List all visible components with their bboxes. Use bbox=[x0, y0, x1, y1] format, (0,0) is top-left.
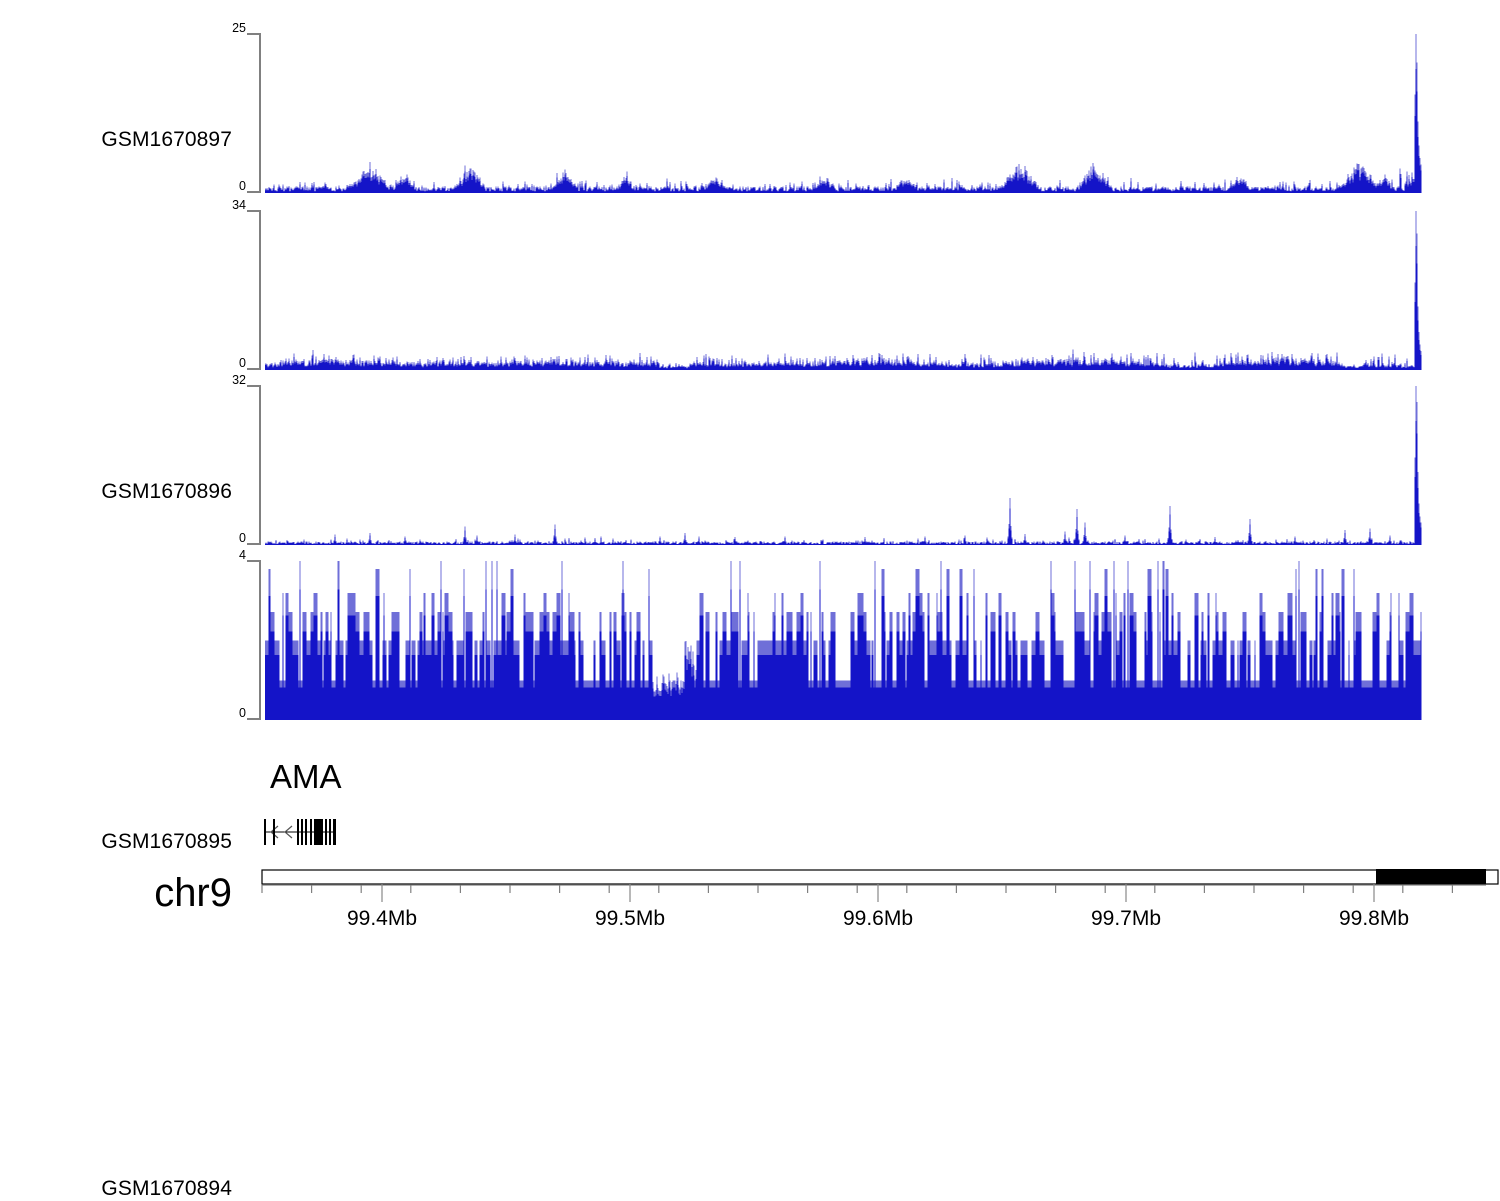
axis-min-gsm1670897: 0 bbox=[216, 180, 246, 193]
axis-min-gsm1670894: 0 bbox=[216, 707, 246, 720]
signal-plot-gsm1670897 bbox=[265, 34, 1422, 193]
chromosome-label: chr9 bbox=[0, 871, 232, 916]
chromosome-ruler-row: chr9 99.4Mb99.5Mb99.6Mb99.7Mb99.8Mb bbox=[0, 862, 1500, 980]
track-label-gsm1670897: GSM1670897 bbox=[0, 128, 232, 152]
coverage-track-gsm1670897[interactable]: GSM1670897 25 0 bbox=[0, 28, 1500, 198]
genome-browser: GSM1670897 25 0 GSM1670896 34 0 GSM16708… bbox=[0, 0, 1500, 980]
axis-max-gsm1670895: 32 bbox=[216, 374, 246, 387]
axis-max-gsm1670897: 25 bbox=[216, 22, 246, 35]
track-label-gsm1670894: GSM1670894 bbox=[0, 1177, 232, 1201]
coverage-track-gsm1670896[interactable]: GSM1670896 34 0 bbox=[0, 205, 1500, 375]
coordinate-ruler[interactable] bbox=[248, 862, 1500, 907]
ruler-tick-label: 99.5Mb bbox=[595, 907, 665, 931]
gene-model-ama[interactable] bbox=[262, 817, 342, 852]
axis-line-gsm1670895 bbox=[246, 380, 266, 550]
gene-annotation-track[interactable]: AMA bbox=[0, 755, 1500, 865]
signal-plot-gsm1670896 bbox=[265, 211, 1422, 370]
coverage-track-gsm1670894[interactable]: GSM1670894 4 0 bbox=[0, 555, 1500, 725]
coverage-track-gsm1670895[interactable]: GSM1670895 32 0 bbox=[0, 380, 1500, 550]
signal-plot-gsm1670895 bbox=[265, 386, 1422, 545]
ruler-tick-label: 99.8Mb bbox=[1339, 907, 1409, 931]
ruler-tick-label: 99.4Mb bbox=[347, 907, 417, 931]
axis-line-gsm1670894 bbox=[246, 555, 266, 725]
axis-min-gsm1670895: 0 bbox=[216, 532, 246, 545]
axis-min-gsm1670896: 0 bbox=[216, 357, 246, 370]
gene-label-ama: AMA bbox=[270, 758, 342, 796]
axis-max-gsm1670896: 34 bbox=[216, 199, 246, 212]
axis-line-gsm1670896 bbox=[246, 205, 266, 375]
ruler-tick-label: 99.6Mb bbox=[843, 907, 913, 931]
signal-plot-gsm1670894 bbox=[265, 561, 1422, 720]
ruler-tick-label: 99.7Mb bbox=[1091, 907, 1161, 931]
axis-line-gsm1670897 bbox=[246, 28, 266, 198]
axis-max-gsm1670894: 4 bbox=[216, 549, 246, 562]
